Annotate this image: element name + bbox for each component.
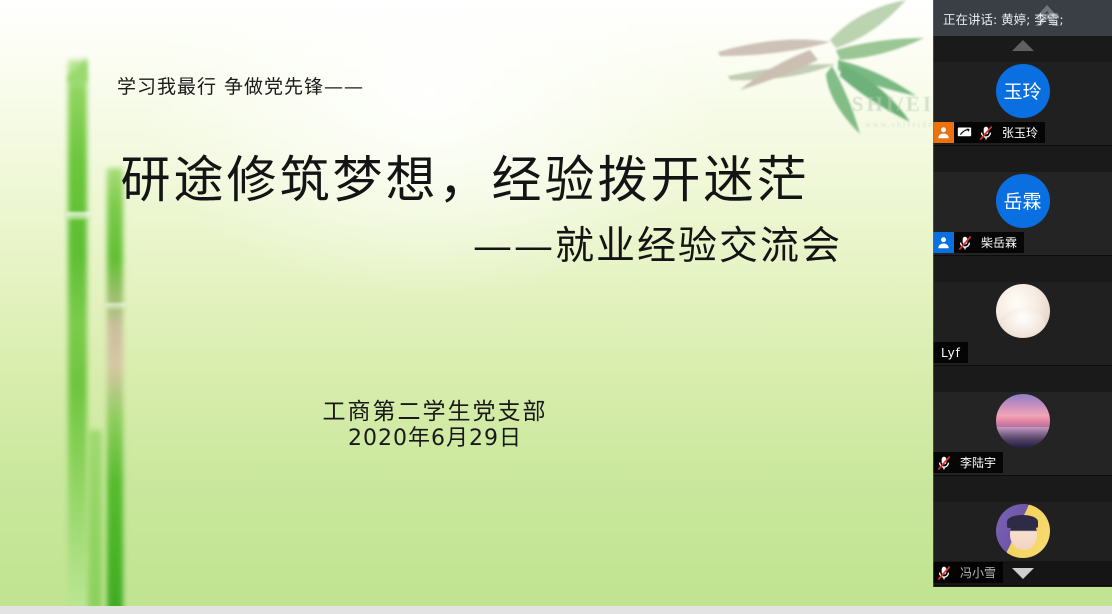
avatar-initials: 岳霖 — [1003, 187, 1041, 214]
participant-tile-2[interactable]: Lyf — [933, 256, 1112, 366]
mic-muted-icon — [933, 562, 954, 583]
slide-subtitle: ——就业经验交流会 — [0, 215, 930, 271]
participant-tile-0[interactable]: 玉玲 张玉玲 — [933, 36, 1112, 146]
bamboo-stalk-short-icon — [88, 430, 102, 606]
avatar — [996, 504, 1050, 558]
tile-top-band — [933, 366, 1112, 392]
brand-watermark: SHI/EI www.shiseido — [749, 92, 934, 129]
participant-name: Lyf — [941, 346, 961, 360]
avatar — [996, 394, 1050, 448]
participant-tile-4[interactable]: 冯小雪 — [933, 476, 1112, 586]
window-bottom-strip — [0, 606, 1112, 614]
participant-namebar: 张玉玲 — [933, 122, 1045, 143]
host-badge-icon — [933, 122, 954, 143]
participant-name: 冯小雪 — [960, 564, 996, 581]
participant-namebar: 李陆宇 — [933, 452, 1003, 473]
avatar: 玉玲 — [996, 64, 1050, 118]
watermark-sub-text: www.shiseido — [749, 120, 934, 129]
chevron-up-icon[interactable] — [1030, 4, 1064, 34]
participants-panel: 正在讲话: 黄婷; 李雪; 玉玲 — [933, 0, 1112, 587]
tile-top-band — [933, 256, 1112, 282]
participant-namebar: 冯小雪 — [933, 562, 1003, 583]
watermark-main-text: SHI/EI — [749, 92, 934, 117]
screen-share-icon — [954, 122, 975, 143]
avatar — [996, 284, 1050, 338]
participant-name: 柴岳霖 — [981, 234, 1017, 251]
avatar-initials: 玉玲 — [1003, 77, 1041, 104]
participant-namebar: 柴岳霖 — [933, 232, 1024, 253]
participant-tile-3[interactable]: 李陆宇 — [933, 366, 1112, 476]
tile-top-band — [933, 476, 1112, 502]
tile-top-band — [933, 146, 1112, 172]
participant-badge-icon — [933, 232, 954, 253]
mic-muted-icon — [954, 232, 975, 253]
slide-title: 研途修筑梦想，经验拨开迷茫 — [0, 140, 930, 212]
avatar-art-hat — [1007, 515, 1037, 528]
scroll-up-arrow-icon[interactable] — [1012, 40, 1034, 51]
panel-left-edge — [933, 0, 934, 587]
mic-muted-icon — [933, 452, 954, 473]
active-speaker-header[interactable]: 正在讲话: 黄婷; 李雪; — [933, 0, 1112, 36]
bamboo-tip-icon — [68, 56, 87, 82]
bamboo-node-2-icon — [105, 303, 126, 310]
participant-namebar: Lyf — [933, 342, 968, 363]
slide-kicker-text: 学习我最行 争做党先锋—— — [117, 72, 364, 99]
participant-name: 张玉玲 — [1002, 124, 1038, 141]
participant-list[interactable]: 玉玲 张玉玲 — [933, 36, 1112, 586]
slide-date: 2020年6月29日 — [0, 420, 930, 452]
screen: SHI/EI www.shiseido 学习我最行 争做党先锋—— 研途修筑梦想… — [0, 0, 1112, 614]
mic-muted-icon — [975, 122, 996, 143]
participant-tile-1[interactable]: 岳霖 柴岳霖 — [933, 146, 1112, 256]
participant-name: 李陆宇 — [960, 454, 996, 471]
scroll-down-arrow-icon[interactable] — [1012, 568, 1034, 579]
avatar: 岳霖 — [996, 174, 1050, 228]
